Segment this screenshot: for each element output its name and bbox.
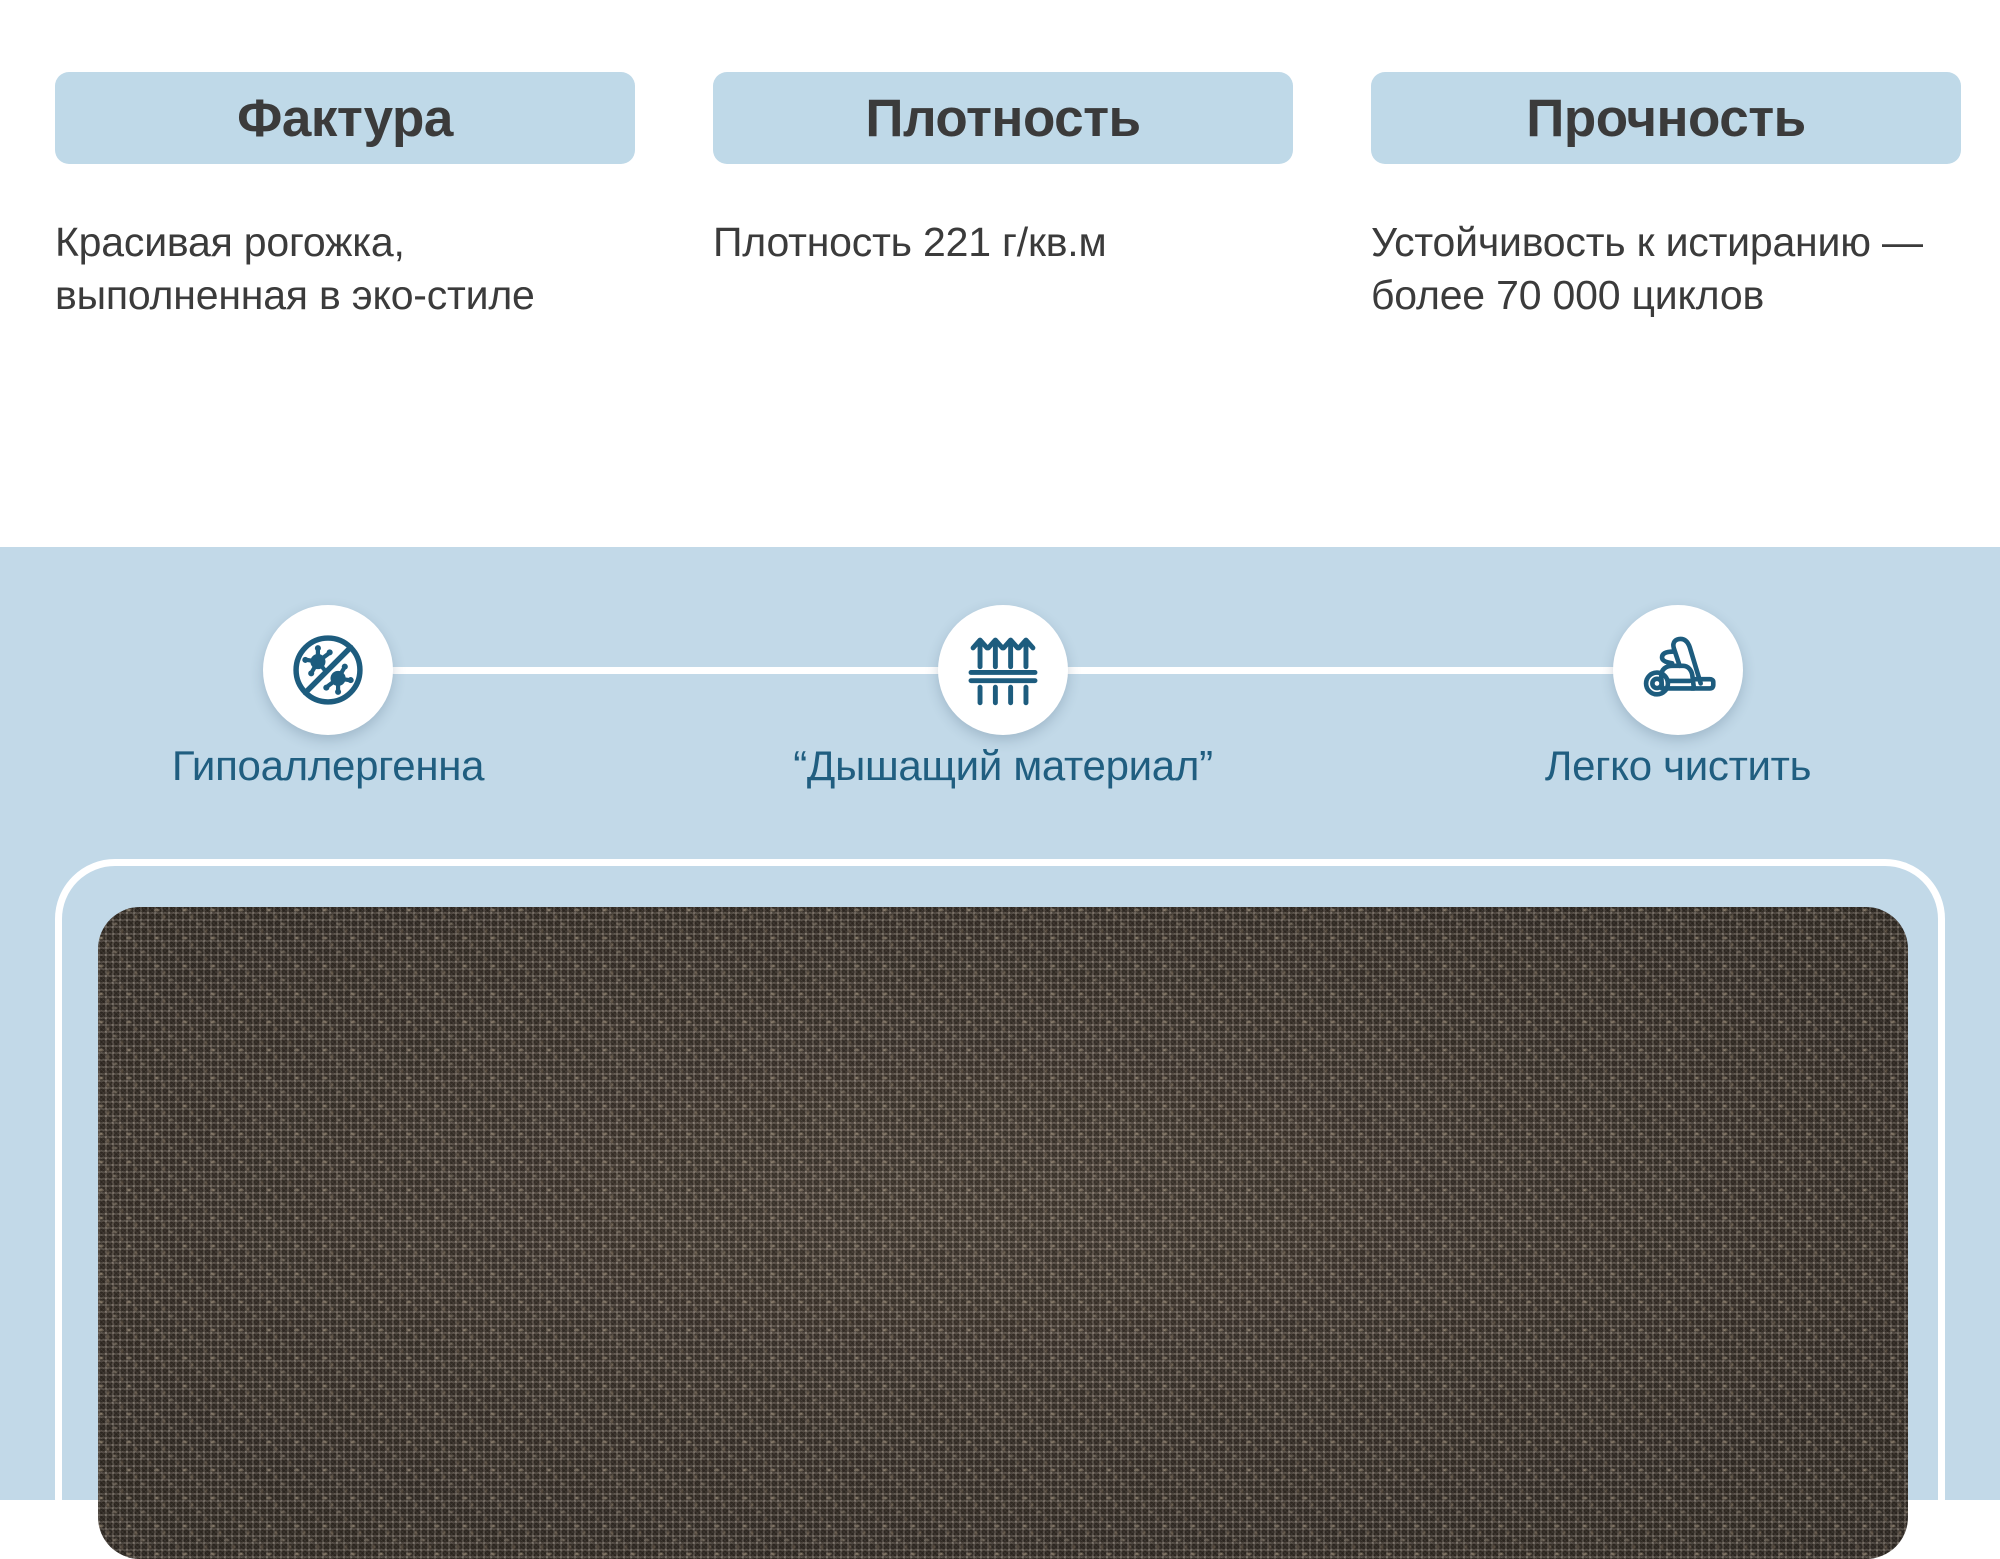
- connector-line: [1040, 667, 1660, 674]
- feature-description-texture: Красивая рогожка, выполненная в эко-стил…: [55, 216, 635, 323]
- no-allergen-icon: [286, 628, 370, 712]
- properties-band-section: Гипоаллергенна “Дышащий материал” Легко …: [0, 547, 2000, 1500]
- feature-badge-durability: Прочность: [1371, 72, 1961, 164]
- icon-feature-strip: Гипоаллергенна “Дышащий материал” Легко …: [0, 547, 2000, 807]
- feature-badge-label: Фактура: [237, 92, 453, 145]
- icon-caption-breathable: “Дышащий материал”: [703, 742, 1303, 790]
- feature-badge-texture: Фактура: [55, 72, 635, 164]
- fabric-swatch-image: [98, 907, 1908, 1559]
- feature-column-density: Плотность Плотность 221 г/кв.м: [713, 72, 1293, 269]
- icon-caption-easy-clean: Легко чистить: [1428, 742, 1928, 790]
- icon-node-breathable: [938, 605, 1068, 735]
- connector-line: [390, 667, 980, 674]
- feature-badge-density: Плотность: [713, 72, 1293, 164]
- feature-badge-label: Прочность: [1526, 92, 1806, 145]
- icon-caption-hypoallergenic: Гипоаллергенна: [113, 742, 543, 790]
- feature-column-texture: Фактура Красивая рогожка, выполненная в …: [55, 72, 635, 323]
- icon-node-hypoallergenic: [263, 605, 393, 735]
- feature-description-density: Плотность 221 г/кв.м: [713, 216, 1293, 269]
- fabric-texture-overlay: [98, 907, 1908, 1559]
- feature-summary-section: Фактура Красивая рогожка, выполненная в …: [0, 0, 2000, 547]
- feature-badge-label: Плотность: [865, 92, 1140, 145]
- breathable-arrows-icon: [962, 629, 1044, 711]
- icon-node-easy-clean: [1613, 605, 1743, 735]
- vacuum-cleaner-icon: [1636, 628, 1720, 712]
- feature-description-durability: Устойчивость к истиранию — более 70 000 …: [1371, 216, 1961, 323]
- feature-column-durability: Прочность Устойчивость к истиранию — бол…: [1371, 72, 1961, 323]
